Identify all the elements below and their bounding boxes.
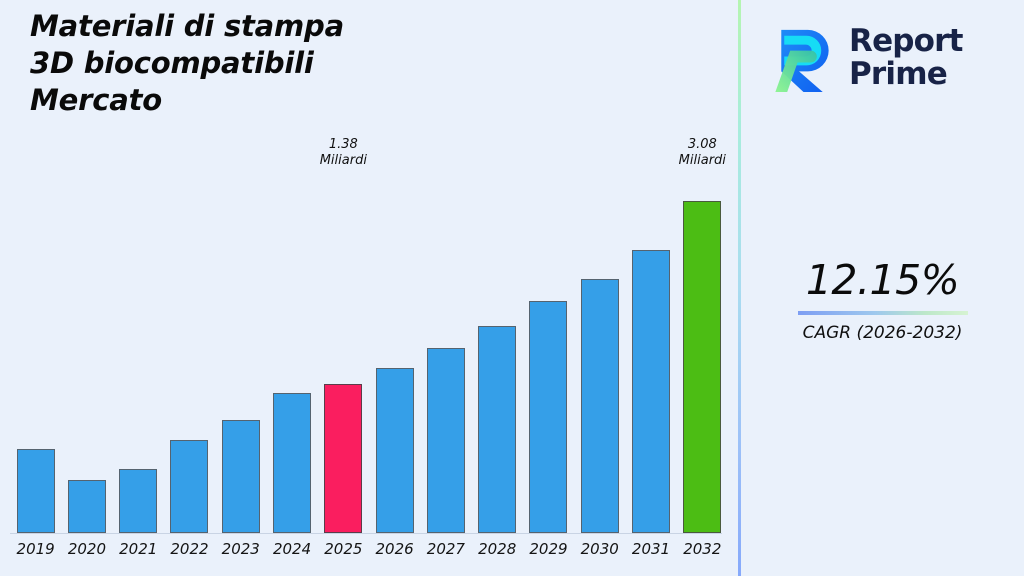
bar-2024[interactable]: [273, 393, 311, 533]
bar-2020[interactable]: [68, 480, 106, 533]
info-panel: Report Prime 12.15% CAGR (2026-2032): [741, 0, 1024, 576]
brand-logo: Report Prime: [765, 12, 1005, 104]
cagr-divider-rule: [798, 311, 968, 315]
bar-slot: 1.38 Miliardi: [318, 172, 369, 533]
brand-name: Report Prime: [849, 25, 963, 91]
bar-2030[interactable]: [581, 279, 619, 533]
x-tick-2030: 2030: [574, 538, 625, 564]
x-tick-2019: 2019: [10, 538, 61, 564]
bar-slot: [266, 172, 317, 533]
bar-2019[interactable]: [17, 449, 55, 533]
bar-2029[interactable]: [529, 301, 567, 533]
bar-2025[interactable]: 1.38 Miliardi: [324, 384, 362, 533]
x-axis-tick-labels: 2019202020212022202320242025202620272028…: [10, 538, 728, 564]
bar-slot: [10, 172, 61, 533]
bar-slot: [61, 172, 112, 533]
x-tick-2021: 2021: [113, 538, 164, 564]
x-tick-2028: 2028: [472, 538, 523, 564]
bar-2022[interactable]: [170, 440, 208, 533]
plot-area: 1.38 Miliardi3.08 Miliardi 2019202020212…: [0, 130, 738, 576]
cagr-block: 12.15% CAGR (2026-2032): [741, 255, 1024, 344]
x-tick-2023: 2023: [215, 538, 266, 564]
chart-panel: Materiali di stampa 3D biocompatibili Me…: [0, 0, 738, 576]
bar-slot: [215, 172, 266, 533]
page-title: Materiali di stampa 3D biocompatibili Me…: [30, 8, 490, 119]
bar-slot: [113, 172, 164, 533]
x-tick-2024: 2024: [266, 538, 317, 564]
x-tick-2025: 2025: [318, 538, 369, 564]
x-tick-2029: 2029: [523, 538, 574, 564]
bar-slot: [625, 172, 676, 533]
bar-2021[interactable]: [119, 469, 157, 533]
bar-slot: [369, 172, 420, 533]
cagr-value: 12.15%: [741, 255, 1024, 305]
bar-value-label-2032: 3.08 Miliardi: [679, 137, 726, 169]
x-tick-2031: 2031: [625, 538, 676, 564]
cagr-caption: CAGR (2026-2032): [741, 322, 1024, 344]
bar-slot: [574, 172, 625, 533]
bar-2028[interactable]: [478, 326, 516, 533]
x-tick-2032: 2032: [677, 538, 728, 564]
x-tick-2022: 2022: [164, 538, 215, 564]
x-tick-2020: 2020: [61, 538, 112, 564]
bar-value-label-2025: 1.38 Miliardi: [320, 137, 367, 169]
bar-2026[interactable]: [376, 368, 414, 533]
report-prime-r-logo-icon: [765, 21, 839, 95]
x-tick-2026: 2026: [369, 538, 420, 564]
infographic-root: Materiali di stampa 3D biocompatibili Me…: [0, 0, 1024, 576]
x-tick-2027: 2027: [420, 538, 471, 564]
bar-slot: [472, 172, 523, 533]
x-axis-line: [10, 533, 722, 534]
bar-2023[interactable]: [222, 420, 260, 533]
bar-series: 1.38 Miliardi3.08 Miliardi: [10, 172, 728, 533]
bar-slot: [164, 172, 215, 533]
bar-slot: 3.08 Miliardi: [677, 172, 728, 533]
bar-2031[interactable]: [632, 250, 670, 533]
bar-slot: [523, 172, 574, 533]
bar-slot: [420, 172, 471, 533]
bar-2032[interactable]: 3.08 Miliardi: [683, 201, 721, 533]
bar-2027[interactable]: [427, 348, 465, 533]
